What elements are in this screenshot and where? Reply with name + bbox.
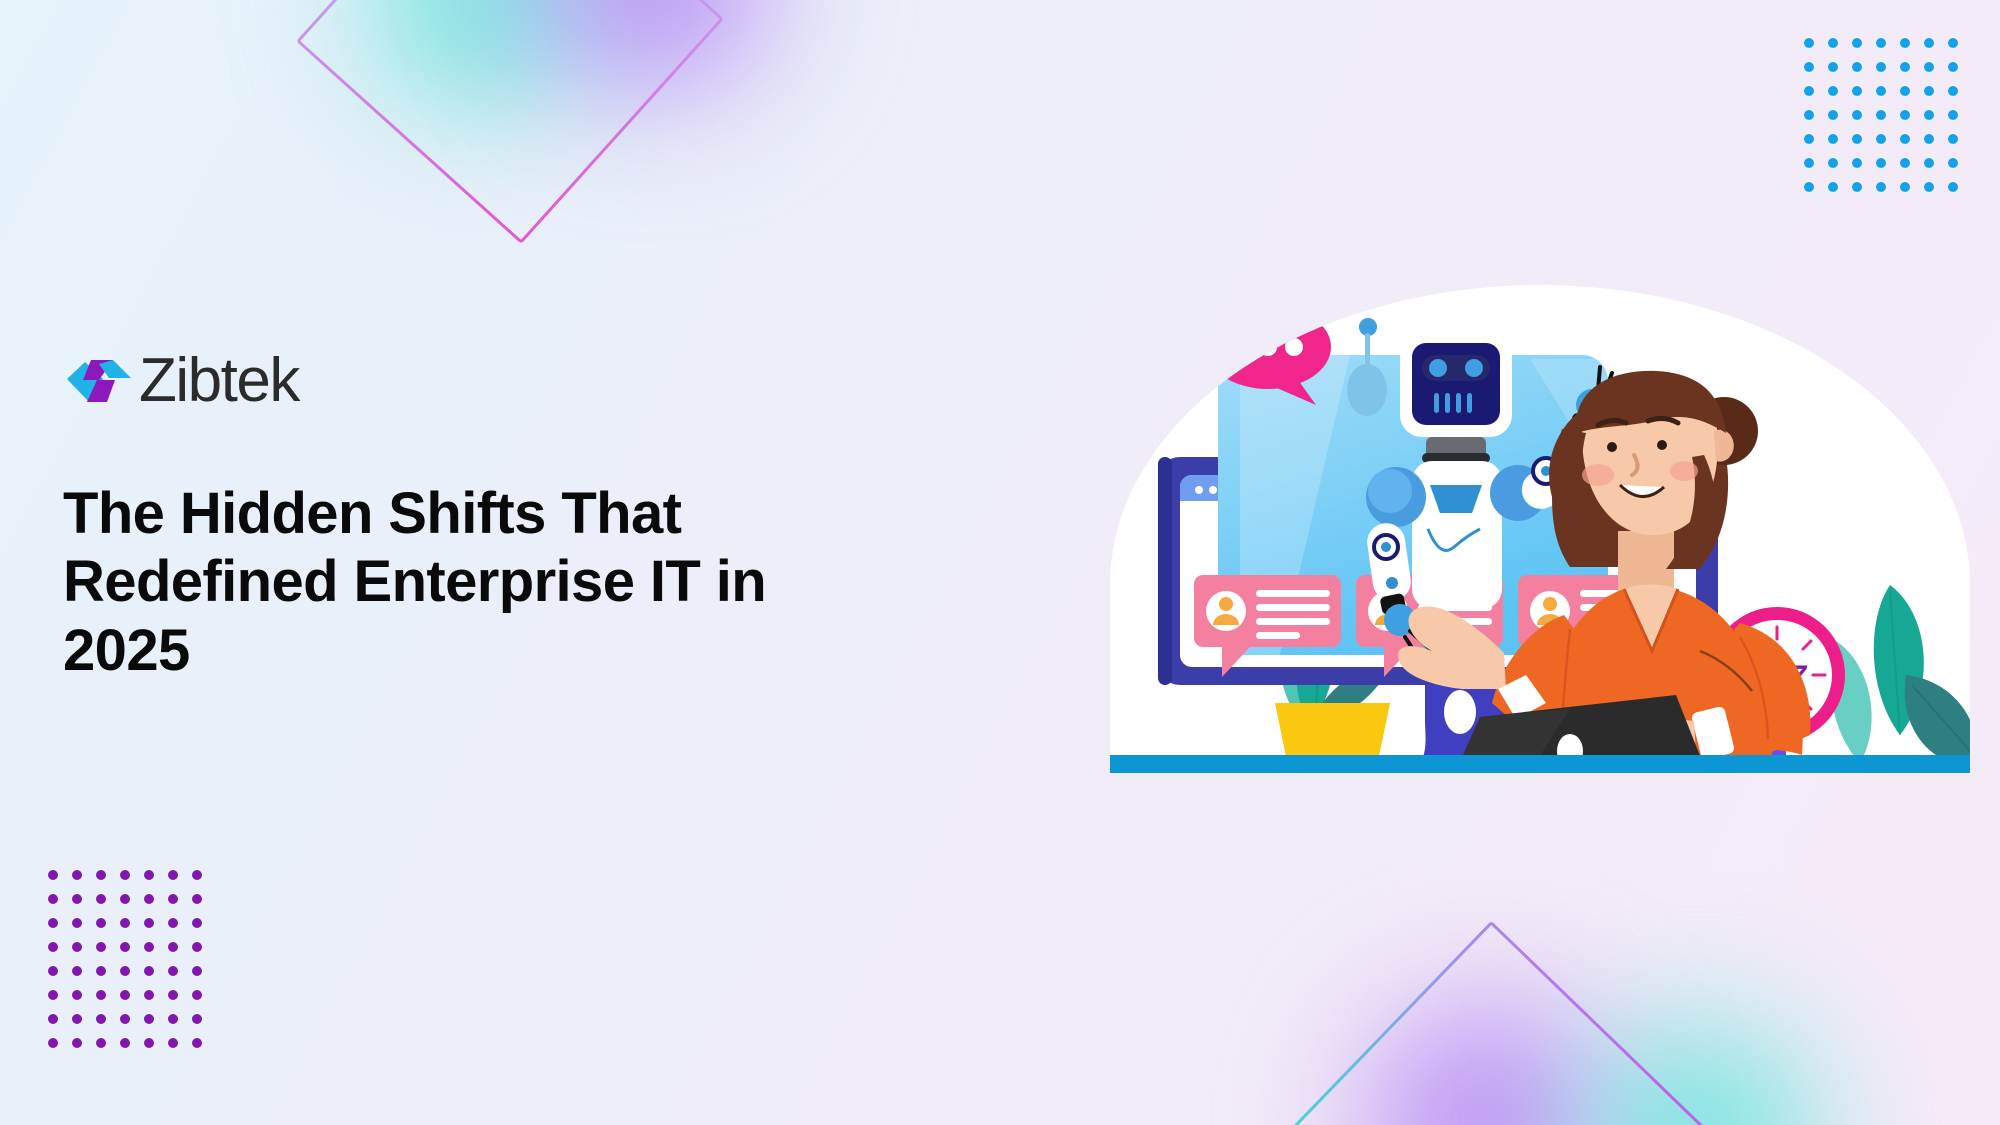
grid-dot [120, 990, 130, 1000]
grid-dot [168, 1014, 178, 1024]
grid-dot [1900, 86, 1910, 96]
grid-dot [168, 966, 178, 976]
grid-dot [96, 870, 106, 880]
grid-dot [1804, 134, 1814, 144]
grid-dot [72, 966, 82, 976]
grid-dot [1852, 62, 1862, 72]
dot-grid-top-right [1804, 38, 1972, 206]
grid-dot [144, 1038, 154, 1048]
grid-dot [168, 1038, 178, 1048]
grid-dot [144, 918, 154, 928]
grid-dot [192, 894, 202, 904]
grid-dot [1876, 134, 1886, 144]
grid-dot [1948, 110, 1958, 120]
grid-dot [120, 942, 130, 952]
grid-dot [144, 870, 154, 880]
grid-dot [48, 990, 58, 1000]
grid-dot [192, 1038, 202, 1048]
brand-logo[interactable]: Zibtek [63, 350, 943, 412]
grid-dot [192, 918, 202, 928]
grid-dot [120, 918, 130, 928]
grid-dot [1804, 38, 1814, 48]
banner-content: Zibtek The Hidden Shifts That Redefined … [63, 350, 943, 685]
decorative-blob-purple-bottom-right [1320, 960, 1650, 1125]
dot-grid-bottom-left [48, 870, 216, 1062]
grid-dot [1852, 110, 1862, 120]
page-title: The Hidden Shifts That Redefined Enterpr… [63, 480, 893, 685]
grid-dot [1828, 86, 1838, 96]
grid-dot [1828, 158, 1838, 168]
grid-dot [96, 894, 106, 904]
grid-dot [72, 1014, 82, 1024]
grid-dot [1852, 158, 1862, 168]
zibtek-chevron-logo-icon [63, 352, 135, 410]
blog-banner: Zibtek The Hidden Shifts That Redefined … [0, 0, 2000, 1125]
grid-dot [1876, 86, 1886, 96]
grid-dot [192, 942, 202, 952]
grid-dot [1804, 62, 1814, 72]
grid-dot [1900, 134, 1910, 144]
grid-dot [1852, 86, 1862, 96]
grid-dot [48, 918, 58, 928]
grid-dot [1900, 62, 1910, 72]
grid-dot [1900, 158, 1910, 168]
hero-illustration: 24/7 [1100, 285, 1980, 780]
grid-dot [96, 942, 106, 952]
grid-dot [168, 942, 178, 952]
grid-dot [1924, 110, 1934, 120]
grid-dot [168, 894, 178, 904]
grid-dot [144, 1014, 154, 1024]
rotated-square-outline-icon [250, 0, 770, 290]
grid-dot [1804, 86, 1814, 96]
grid-dot [48, 1038, 58, 1048]
grid-dot [144, 990, 154, 1000]
grid-dot [1828, 62, 1838, 72]
decorative-blob-teal-bottom-right [1540, 980, 1860, 1125]
grid-dot [1876, 110, 1886, 120]
grid-dot [1948, 62, 1958, 72]
grid-dot [48, 894, 58, 904]
grid-dot [192, 990, 202, 1000]
grid-dot [96, 1038, 106, 1048]
grid-dot [72, 894, 82, 904]
decorative-blob-teal-top-left [330, 0, 630, 150]
grid-dot [48, 966, 58, 976]
grid-dot [1924, 62, 1934, 72]
grid-dot [1900, 110, 1910, 120]
grid-dot [1876, 62, 1886, 72]
grid-dot [72, 870, 82, 880]
grid-dot [1900, 38, 1910, 48]
grid-dot [1948, 86, 1958, 96]
grid-dot [1852, 182, 1862, 192]
grid-dot [1924, 86, 1934, 96]
grid-dot [168, 990, 178, 1000]
grid-dot [1948, 38, 1958, 48]
grid-dot [1924, 182, 1934, 192]
grid-dot [1852, 38, 1862, 48]
rotated-square-outline-icon [1210, 855, 1770, 1125]
grid-dot [72, 1038, 82, 1048]
grid-dot [96, 990, 106, 1000]
grid-dot [96, 966, 106, 976]
grid-dot [1876, 158, 1886, 168]
grid-dot [1852, 134, 1862, 144]
grid-dot [48, 942, 58, 952]
grid-dot [1924, 38, 1934, 48]
grid-dot [168, 870, 178, 880]
grid-dot [1948, 134, 1958, 144]
grid-dot [120, 966, 130, 976]
grid-dot [144, 966, 154, 976]
grid-dot [1948, 182, 1958, 192]
grid-dot [1804, 182, 1814, 192]
grid-dot [192, 966, 202, 976]
grid-dot [48, 1014, 58, 1024]
grid-dot [1828, 110, 1838, 120]
grid-dot [1924, 158, 1934, 168]
desk-bar [1105, 755, 1975, 773]
grid-dot [1828, 38, 1838, 48]
grid-dot [1876, 182, 1886, 192]
grid-dot [72, 942, 82, 952]
grid-dot [120, 1014, 130, 1024]
grid-dot [1828, 134, 1838, 144]
grid-dot [168, 918, 178, 928]
grid-dot [120, 894, 130, 904]
grid-dot [96, 1014, 106, 1024]
grid-dot [1876, 38, 1886, 48]
decorative-blob-purple-top-left [500, 0, 810, 135]
grid-dot [144, 894, 154, 904]
grid-dot [1804, 158, 1814, 168]
grid-dot [96, 918, 106, 928]
grid-dot [1924, 134, 1934, 144]
grid-dot [120, 870, 130, 880]
grid-dot [1948, 158, 1958, 168]
grid-dot [1828, 182, 1838, 192]
grid-dot [72, 918, 82, 928]
grid-dot [48, 870, 58, 880]
grid-dot [144, 942, 154, 952]
grid-dot [1900, 182, 1910, 192]
brand-wordmark: Zibtek [139, 350, 299, 412]
grid-dot [192, 870, 202, 880]
grid-dot [192, 1014, 202, 1024]
grid-dot [120, 1038, 130, 1048]
grid-dot [72, 990, 82, 1000]
grid-dot [1804, 110, 1814, 120]
